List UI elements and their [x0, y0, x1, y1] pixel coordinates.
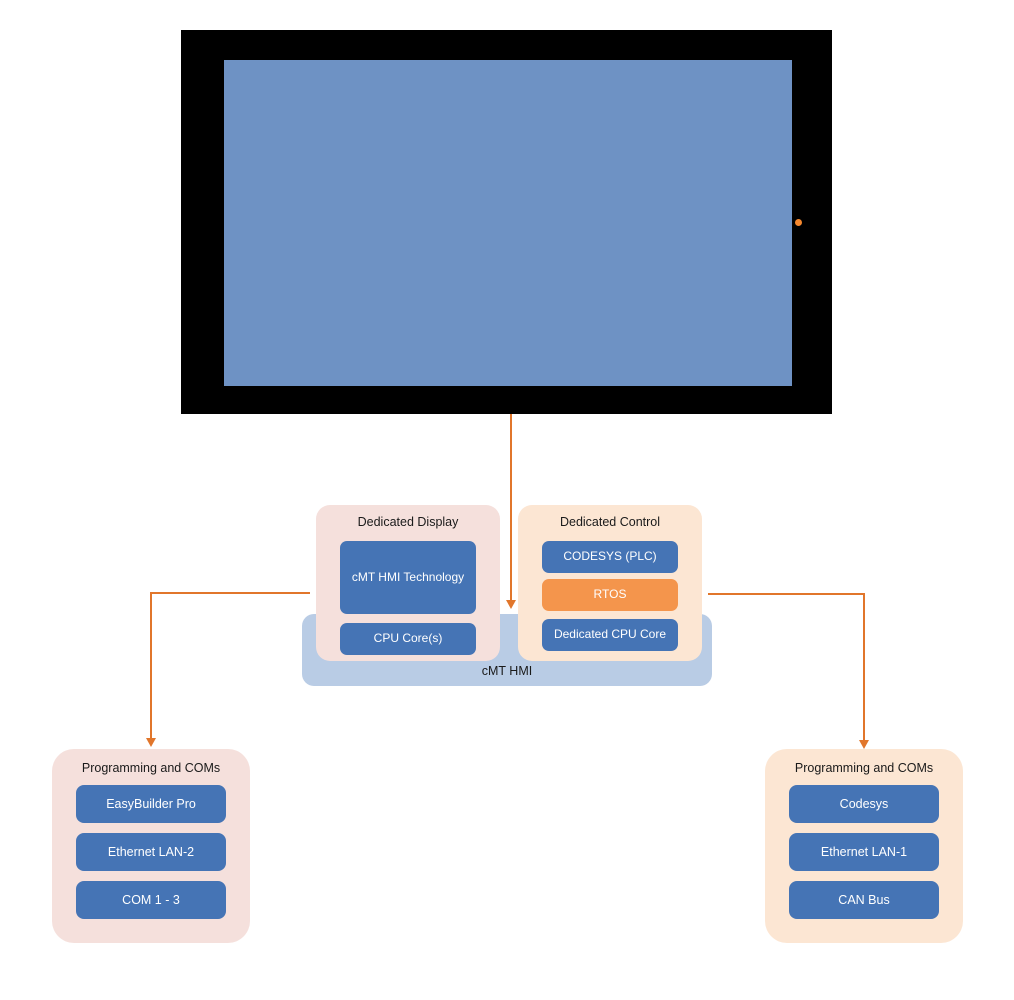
arrowhead-device-to-architecture [506, 600, 516, 609]
connector-device-to-architecture [510, 414, 512, 601]
block-com-1-3[interactable]: COM 1 - 3 [76, 881, 226, 919]
block-cmt-hmi-technology[interactable]: cMT HMI Technology [340, 541, 476, 614]
connector-control-to-right-io-horizontal [708, 593, 865, 595]
block-rtos[interactable]: RTOS [542, 579, 678, 611]
connector-display-to-left-io-horizontal [150, 592, 310, 594]
block-cpu-cores[interactable]: CPU Core(s) [340, 623, 476, 655]
block-codesys-plc[interactable]: CODESYS (PLC) [542, 541, 678, 573]
block-ethernet-lan-1[interactable]: Ethernet LAN-1 [789, 833, 939, 871]
panel-programming-and-coms-right-title: Programming and COMs [765, 761, 963, 775]
arrowhead-right-io [859, 740, 869, 749]
cmt-hmi-container-label: cMT HMI [302, 664, 712, 678]
panel-programming-and-coms-right: Programming and COMs Codesys Ethernet LA… [765, 749, 963, 943]
block-ethernet-lan-2[interactable]: Ethernet LAN-2 [76, 833, 226, 871]
arrowhead-left-io [146, 738, 156, 747]
block-easybuilder-pro[interactable]: EasyBuilder Pro [76, 785, 226, 823]
block-dedicated-cpu-core[interactable]: Dedicated CPU Core [542, 619, 678, 651]
block-codesys[interactable]: Codesys [789, 785, 939, 823]
panel-dedicated-display: Dedicated Display cMT HMI Technology CPU… [316, 505, 500, 661]
connector-display-to-left-io-vertical [150, 592, 152, 739]
block-can-bus[interactable]: CAN Bus [789, 881, 939, 919]
hmi-device-bezel [181, 30, 832, 414]
panel-dedicated-control: Dedicated Control CODESYS (PLC) RTOS Ded… [518, 505, 702, 661]
power-led-indicator-icon [795, 219, 802, 226]
panel-dedicated-control-title: Dedicated Control [518, 515, 702, 529]
connector-control-to-right-io-vertical [863, 593, 865, 741]
panel-programming-and-coms-left-title: Programming and COMs [52, 761, 250, 775]
panel-programming-and-coms-left: Programming and COMs EasyBuilder Pro Eth… [52, 749, 250, 943]
hmi-display-screen[interactable] [224, 60, 792, 386]
panel-dedicated-display-title: Dedicated Display [316, 515, 500, 529]
